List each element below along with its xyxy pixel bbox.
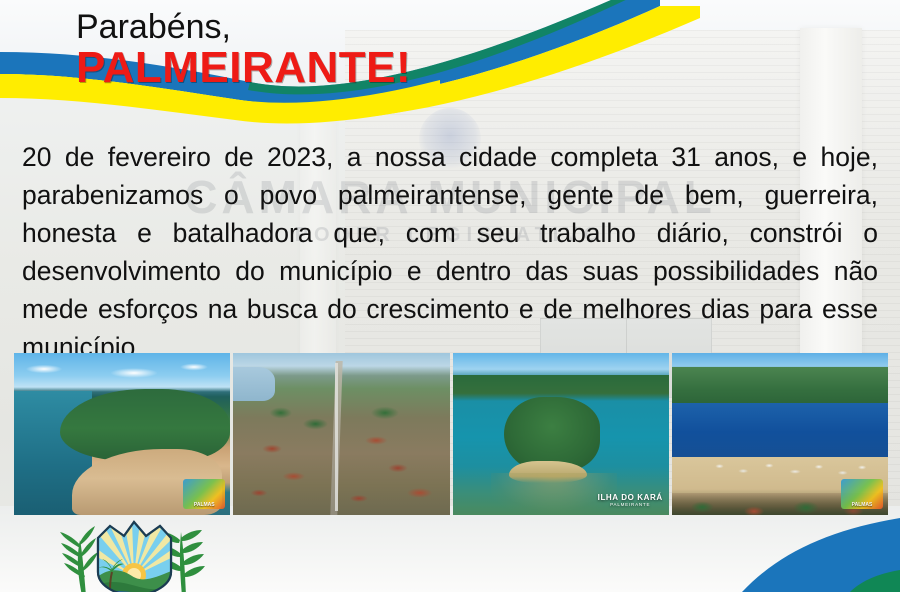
far-shore-forest (672, 367, 888, 405)
body-paragraph: 20 de fevereiro de 2023, a nossa cidade … (22, 138, 878, 366)
photo-ilha-do-kara: ILHA DO KARÁ PALMEIRANTE (453, 353, 669, 515)
page-subtitle: Parabéns, (76, 8, 231, 47)
page-title: PALMEIRANTE! (76, 43, 411, 93)
corn-stalk-left (60, 526, 98, 592)
island (504, 397, 599, 471)
photo-town-aerial (233, 353, 449, 515)
communication-tower (335, 363, 338, 511)
palmeirante-anniversary-poster: CÂMARA MUNICIPAL PODER LEGISLATIVO Parab… (0, 0, 900, 592)
photo-beach-gathering: PALMAS (672, 353, 888, 515)
photo-strip: PALMAS ILHA DO KARÁ PALMEIRANTE (14, 353, 888, 515)
river-water (672, 403, 888, 461)
palmeirante-coat-of-arms (54, 514, 214, 592)
clouds (14, 359, 230, 381)
photo-river-sandbank: PALMAS (14, 353, 230, 515)
shield (95, 520, 175, 592)
